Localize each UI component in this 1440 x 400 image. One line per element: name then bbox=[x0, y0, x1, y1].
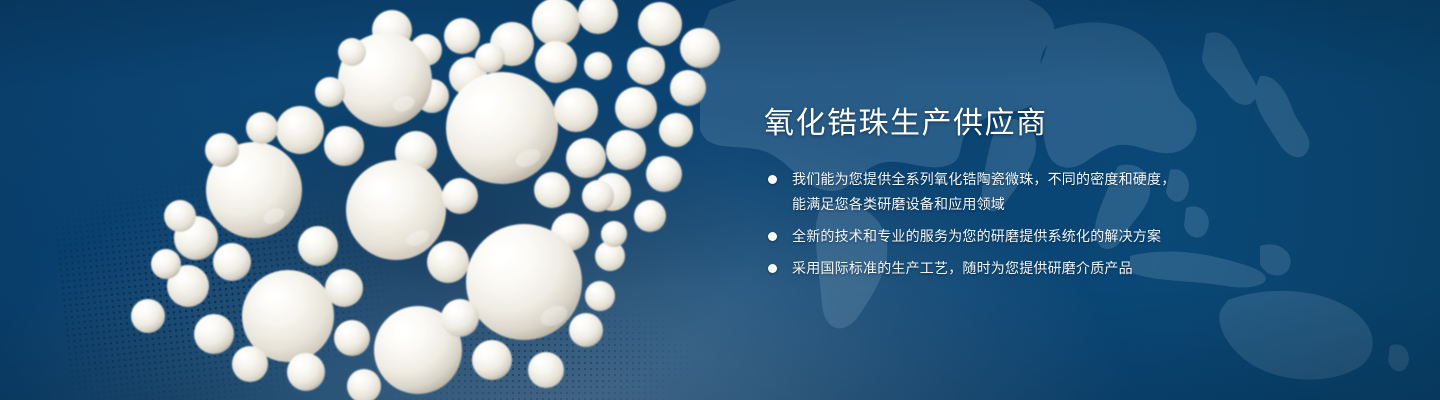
feature-text-line1: 采用国际标准的生产工艺，随时为您提供研磨介质产品 bbox=[792, 260, 1133, 276]
bullet-dot-icon bbox=[768, 264, 777, 273]
list-item: 采用国际标准的生产工艺，随时为您提供研磨介质产品 bbox=[764, 256, 1284, 281]
list-item: 我们能为您提供全系列氧化锆陶瓷微珠，不同的密度和硬度， 能满足您各类研磨设备和应… bbox=[764, 167, 1284, 217]
feature-text-line1: 我们能为您提供全系列氧化锆陶瓷微珠，不同的密度和硬度， bbox=[792, 171, 1175, 187]
feature-list: 我们能为您提供全系列氧化锆陶瓷微珠，不同的密度和硬度， 能满足您各类研磨设备和应… bbox=[764, 167, 1284, 281]
hero-banner: 氧化锆珠生产供应商 我们能为您提供全系列氧化锆陶瓷微珠，不同的密度和硬度， 能满… bbox=[0, 0, 1440, 400]
bullet-dot-icon bbox=[768, 232, 777, 241]
banner-copy: 氧化锆珠生产供应商 我们能为您提供全系列氧化锆陶瓷微珠，不同的密度和硬度， 能满… bbox=[764, 106, 1284, 288]
feature-text-line1: 全新的技术和专业的服务为您的研磨提供系统化的解决方案 bbox=[792, 228, 1161, 244]
page-title: 氧化锆珠生产供应商 bbox=[764, 106, 1284, 141]
list-item: 全新的技术和专业的服务为您的研磨提供系统化的解决方案 bbox=[764, 224, 1284, 249]
feature-text-line2: 能满足您各类研磨设备和应用领域 bbox=[792, 192, 1284, 217]
bullet-dot-icon bbox=[768, 175, 777, 184]
